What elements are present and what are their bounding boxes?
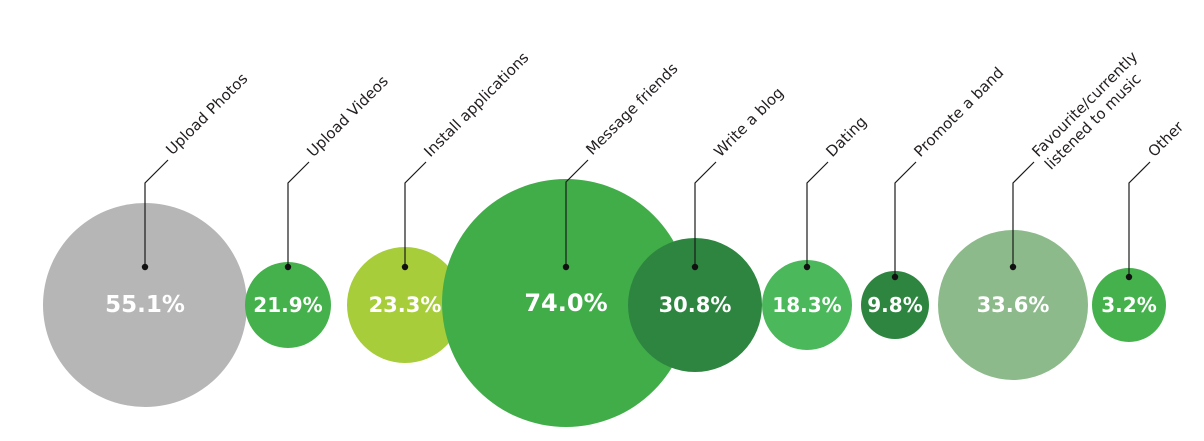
category-label-text-message-friends: Message friends	[582, 59, 681, 158]
category-label-text-other: Other	[1144, 117, 1187, 160]
leader-line-other	[1129, 162, 1150, 277]
bubble-chart-canvas: 55.1%21.9%23.3%74.0%30.8%18.3%9.8%33.6%3…	[0, 0, 1204, 441]
category-label-text-favourite-currently-listened-to-music: Favourite/currentlylistened to music	[1028, 48, 1154, 174]
bubble-value-other: 3.2%	[1101, 293, 1156, 317]
leader-dot-write-a-blog	[692, 264, 698, 270]
leader-line-dating	[807, 162, 828, 267]
category-label-message-friends: Message friends	[582, 59, 681, 158]
bubble-value-dating: 18.3%	[772, 293, 841, 317]
category-label-text-upload-photos: Upload Photos	[162, 69, 251, 158]
category-label-dating: Dating	[822, 113, 870, 161]
leader-dot-promote-a-band	[892, 274, 898, 280]
bubble-chart-svg: 55.1%21.9%23.3%74.0%30.8%18.3%9.8%33.6%3…	[0, 0, 1204, 441]
category-label-text-dating: Dating	[822, 113, 870, 161]
leader-line-promote-a-band	[895, 162, 916, 277]
category-label-write-a-blog: Write a blog	[710, 84, 787, 161]
category-label-text-promote-a-band: Promote a band	[910, 64, 1007, 161]
bubble-value-favourite-currently-listened-to-music: 33.6%	[977, 293, 1050, 317]
category-label-other: Other	[1144, 117, 1187, 160]
category-label-favourite-currently-listened-to-music: Favourite/currentlylistened to music	[1028, 48, 1154, 174]
leader-dot-upload-videos	[285, 264, 291, 270]
category-label-upload-videos: Upload Videos	[303, 72, 392, 161]
leader-line-upload-videos	[288, 162, 309, 267]
bubble-value-upload-photos: 55.1%	[105, 292, 185, 318]
bubble-value-promote-a-band: 9.8%	[867, 293, 922, 317]
category-label-text-upload-videos: Upload Videos	[303, 72, 392, 161]
category-label-text-write-a-blog: Write a blog	[710, 84, 787, 161]
category-label-text-install-applications: Install applications	[420, 48, 532, 160]
bubble-value-upload-videos: 21.9%	[253, 293, 322, 317]
leader-dot-dating	[804, 264, 810, 270]
category-labels-layer: Upload PhotosUpload VideosInstall applic…	[162, 48, 1187, 174]
leader-dot-message-friends	[563, 264, 569, 270]
category-label-upload-photos: Upload Photos	[162, 69, 251, 158]
leader-dot-favourite-currently-listened-to-music	[1010, 264, 1016, 270]
leader-dot-install-applications	[402, 264, 408, 270]
bubble-value-write-a-blog: 30.8%	[659, 293, 732, 317]
bubble-value-message-friends: 74.0%	[524, 289, 607, 317]
category-label-install-applications: Install applications	[420, 48, 532, 160]
leader-dot-upload-photos	[142, 264, 148, 270]
bubble-value-install-applications: 23.3%	[369, 293, 442, 317]
category-label-promote-a-band: Promote a band	[910, 64, 1007, 161]
leader-dot-other	[1126, 274, 1132, 280]
